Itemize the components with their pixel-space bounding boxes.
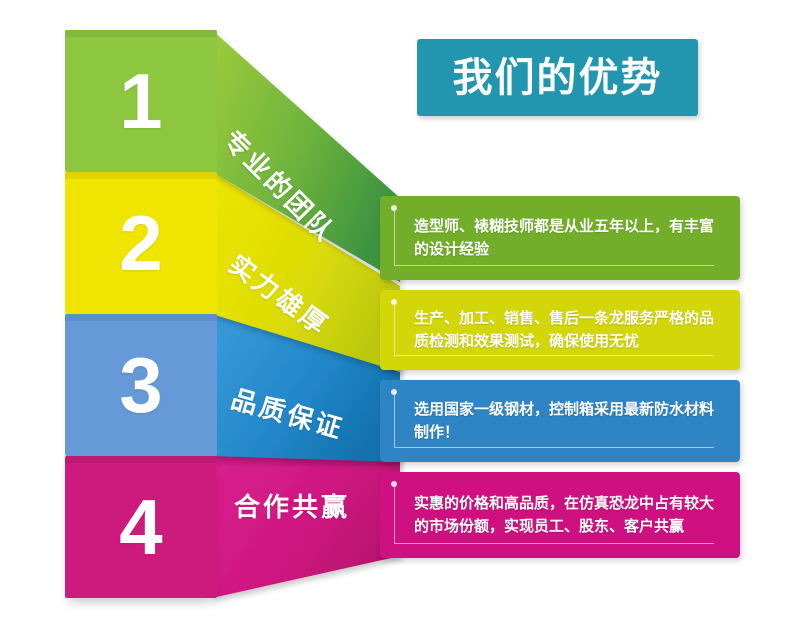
step-number-square-4: 4 [65, 456, 217, 598]
step-number-square-1: 1 [65, 30, 217, 172]
step-number-square-3: 3 [65, 314, 217, 456]
page-title-text: 我们的优势 [453, 58, 663, 98]
description-text-2: 生产、加工、销售、售后一条龙服务严格的品质检测和效果测试，确保使用无忧 [414, 307, 714, 354]
description-text-3: 选用国家一级钢材，控制箱采用最新防水材料制作！ [414, 398, 714, 445]
ribbon-label-4: 合作共赢 [234, 494, 350, 520]
step-number-square-2: 2 [65, 172, 217, 314]
description-panel-1: 造型师、裱糊技师都是从业五年以上，有丰富的设计经验 [380, 196, 740, 280]
description-panel-2: 生产、加工、销售、售后一条龙服务严格的品质检测和效果测试，确保使用无忧 [380, 290, 740, 370]
bullet-dot-icon [391, 389, 397, 395]
step-number-2: 2 [65, 172, 217, 314]
description-panel-3: 选用国家一级钢材，控制箱采用最新防水材料制作！ [380, 380, 740, 462]
bullet-dot-icon [391, 481, 397, 487]
bullet-dot-icon [391, 205, 397, 211]
bullet-dot-icon [391, 299, 397, 305]
infographic-canvas: 我们的优势 1 2 3 4 专业的团队 实力雄厚 品质保证 合作共赢 造型师、裱… [0, 0, 800, 622]
step-number-1: 1 [65, 30, 217, 172]
ribbon-4 [212, 456, 400, 598]
description-text-4: 实惠的价格和高品质，在仿真恐龙中占有较大的市场份额，实现员工、股东、客户共赢 [414, 492, 714, 539]
description-text-1: 造型师、裱糊技师都是从业五年以上，有丰富的设计经验 [414, 215, 714, 262]
description-panel-4: 实惠的价格和高品质，在仿真恐龙中占有较大的市场份额，实现员工、股东、客户共赢 [380, 472, 740, 558]
step-number-4: 4 [65, 456, 217, 598]
page-title: 我们的优势 [417, 39, 698, 116]
step-number-3: 3 [65, 314, 217, 456]
